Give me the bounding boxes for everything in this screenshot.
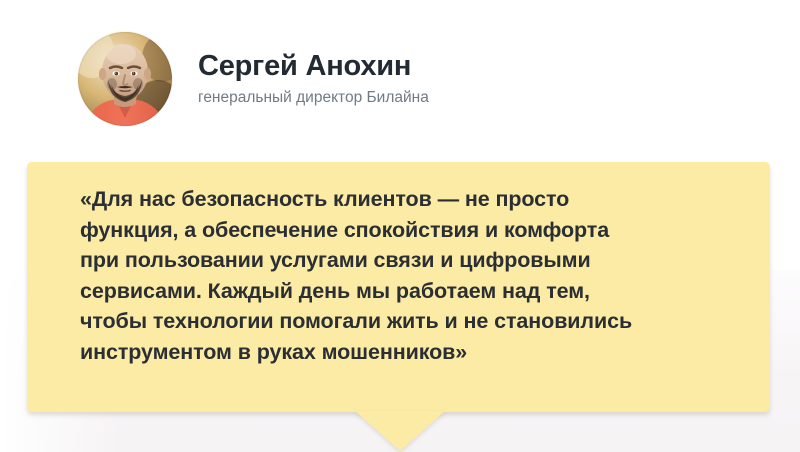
avatar	[78, 32, 172, 126]
quote-card-tail-pointer	[355, 411, 445, 451]
person-name: Сергей Анохин	[198, 50, 429, 82]
quote-text: «Для нас безопасность клиентов — не прос…	[80, 184, 740, 367]
avatar-portrait-image	[78, 32, 172, 126]
quote-card-graphic: Сергей Анохин генеральный директор Билай…	[0, 0, 800, 452]
quote-line: при пользовании услугами связи и цифровы…	[80, 245, 740, 276]
quote-line: сервисами. Каждый день мы работаем над т…	[80, 276, 740, 307]
person-role: генеральный директор Билайна	[198, 89, 429, 108]
person-text-block: Сергей Анохин генеральный директор Билай…	[198, 50, 429, 108]
quote-card: «Для нас безопасность клиентов — не прос…	[27, 162, 770, 412]
quote-line: чтобы технологии помогали жить и не стан…	[80, 306, 740, 337]
person-header: Сергей Анохин генеральный директор Билай…	[78, 32, 429, 126]
quote-line: функция, а обеспечение спокойствия и ком…	[80, 215, 740, 246]
quote-line: инструментом в руках мошенников»	[80, 337, 740, 368]
quote-line: «Для нас безопасность клиентов — не прос…	[80, 184, 740, 215]
